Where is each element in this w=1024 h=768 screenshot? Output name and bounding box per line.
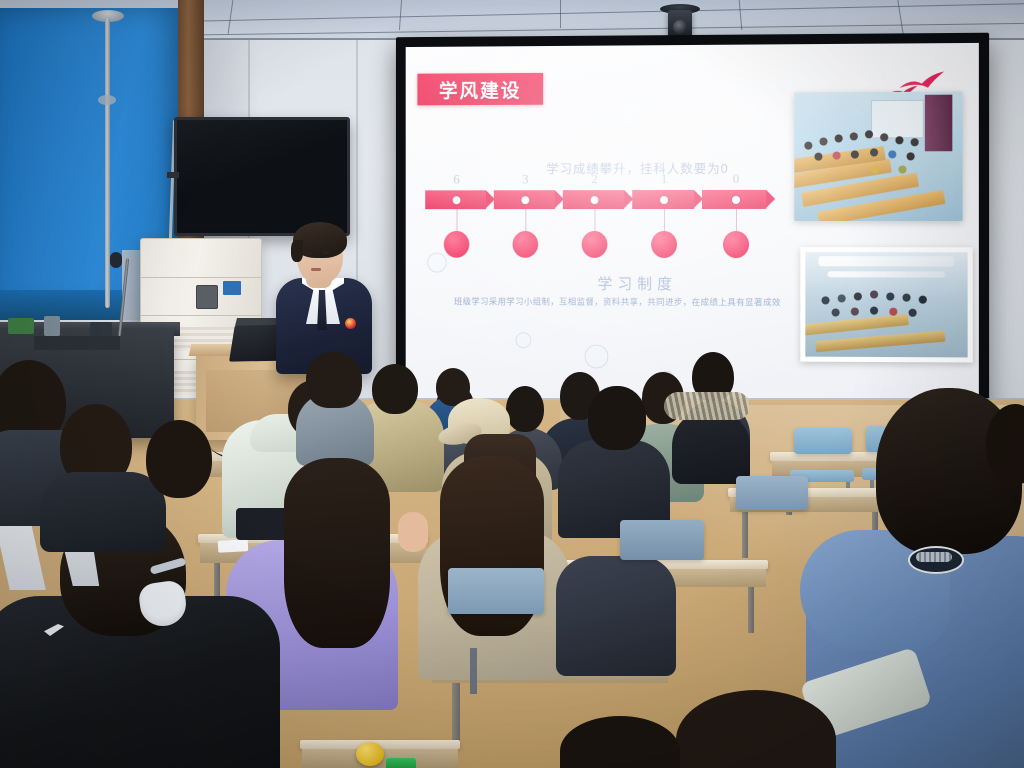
timeline-bullet — [723, 231, 749, 258]
console-object-green — [8, 318, 34, 334]
slide-title: 学风建设 — [439, 76, 521, 103]
photo-classroom-scene — [794, 92, 962, 221]
timeline-number: 1 — [661, 171, 667, 187]
projection-screen: 学风建设 学习成绩攀升，挂科人数要为0 — [406, 43, 979, 409]
wall-mounted-tv — [174, 117, 350, 236]
console-keyboard[interactable] — [34, 336, 120, 350]
presenter-mouth — [311, 268, 321, 271]
ac-control-panel[interactable] — [196, 285, 218, 309]
timeline-bullet — [651, 231, 677, 258]
presenter-eye-left — [305, 252, 312, 255]
lapel-badge-pin — [345, 318, 356, 329]
tv-mount-bracket — [167, 172, 179, 178]
hand-on-face — [398, 512, 428, 552]
slide-photo-top — [794, 92, 962, 221]
timeline-number: 6 — [453, 172, 459, 188]
slide-section-body: 班级学习采用学习小组制，互相监督，资料共享，共同进步，在成绩上具有显著成效 — [423, 296, 812, 308]
decor-bubble — [427, 253, 447, 273]
console-object-gray — [44, 316, 60, 336]
decor-bubble — [585, 345, 609, 369]
presenter-sideburn — [291, 240, 303, 262]
console-object-dark — [90, 322, 112, 336]
conduit-joint — [98, 95, 116, 105]
tv-screen — [177, 120, 347, 233]
green-item-on-desk[interactable] — [386, 758, 416, 768]
timeline-bullet — [444, 231, 469, 258]
microphone-head-icon — [110, 252, 122, 268]
presenter-eye-right — [322, 251, 329, 254]
slide-timeline: 6 3 2 1 0 — [425, 183, 772, 213]
projector-lens-icon — [673, 20, 687, 34]
orange-fruit-on-desk[interactable] — [356, 742, 384, 766]
paper-on-desk[interactable] — [218, 539, 249, 553]
timeline-number: 0 — [733, 171, 740, 187]
projection-screen-frame: 学风建设 学习成绩攀升，挂科人数要为0 — [396, 33, 989, 420]
fur-collar — [664, 392, 750, 420]
slide-title-banner: 学风建设 — [417, 73, 543, 105]
ac-label-sticker — [223, 281, 241, 295]
lecture-hall-photo: 学风建设 学习成绩攀升，挂科人数要为0 — [0, 0, 1024, 768]
timeline-bullet — [513, 231, 539, 258]
timeline-number: 3 — [522, 171, 528, 187]
decor-bubble — [515, 332, 531, 348]
slide-section-title: 学习制度 — [476, 273, 800, 295]
jacket-logo-text — [916, 552, 952, 562]
presentation-slide: 学风建设 学习成绩攀升，挂科人数要为0 — [406, 43, 979, 409]
timeline-number: 2 — [591, 171, 597, 187]
wall-conduit-pipe — [105, 18, 110, 308]
long-dark-hair — [284, 458, 390, 648]
photo-classroom-scene-2 — [805, 252, 967, 357]
slide-photo-bottom — [800, 247, 972, 362]
timeline-bullet — [582, 231, 608, 258]
